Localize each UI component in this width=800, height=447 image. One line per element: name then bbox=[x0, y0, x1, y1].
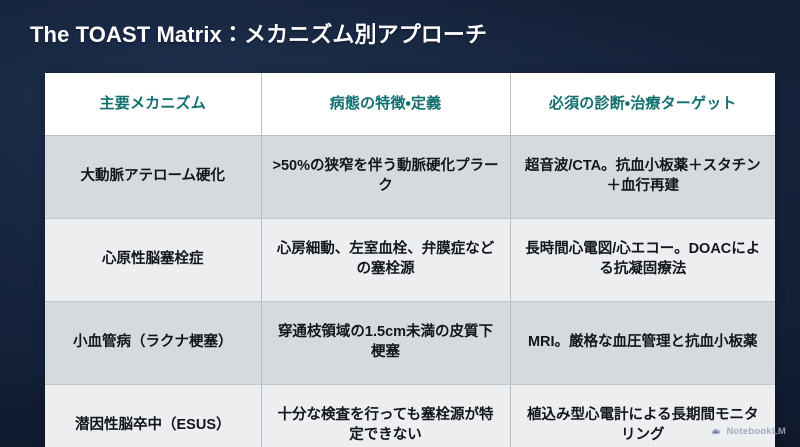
toast-matrix-table: 主要メカニズム 病態の特徴・定義 必須の診断・治療ターゲット 大動脈アテローム硬… bbox=[45, 73, 775, 447]
watermark-label: NotebookLM bbox=[726, 426, 786, 437]
slide-canvas: The TOAST Matrix：メカニズム別アプローチ 主要メカニズム 病態の… bbox=[0, 0, 800, 447]
column-header-target: 必須の診断・治療ターゲット bbox=[510, 73, 775, 136]
column-header-mechanism: 主要メカニズム bbox=[45, 73, 261, 136]
table-row: 心原性脳塞栓症 心房細動、左室血栓、弁膜症などの塞栓源 長時間心電図/心エコー。… bbox=[45, 219, 775, 302]
cell-mechanism: 大動脈アテローム硬化 bbox=[45, 136, 261, 219]
cell-mechanism: 小血管病（ラクナ梗塞） bbox=[45, 302, 261, 385]
cell-definition: 穿通枝領域の1.5cm未満の皮質下梗塞 bbox=[261, 302, 510, 385]
table-row: 小血管病（ラクナ梗塞） 穿通枝領域の1.5cm未満の皮質下梗塞 MRI。厳格な血… bbox=[45, 302, 775, 385]
table-header-row: 主要メカニズム 病態の特徴・定義 必須の診断・治療ターゲット bbox=[45, 73, 775, 136]
cell-mechanism: 潜因性脳卒中（ESUS） bbox=[45, 385, 261, 447]
cell-target: MRI。厳格な血圧管理と抗血小板薬 bbox=[510, 302, 775, 385]
column-header-definition: 病態の特徴・定義 bbox=[261, 73, 510, 136]
watermark: NotebookLM bbox=[711, 426, 786, 437]
cell-definition: 心房細動、左室血栓、弁膜症などの塞栓源 bbox=[261, 219, 510, 302]
cell-target: 超音波/CTA。抗血小板薬＋スタチン＋血行再建 bbox=[510, 136, 775, 219]
notebooklm-icon bbox=[711, 427, 721, 437]
cell-target: 植込み型心電計による長期間モニタリング bbox=[510, 385, 775, 447]
cell-mechanism: 心原性脳塞栓症 bbox=[45, 219, 261, 302]
cell-definition: >50%の狭窄を伴う動脈硬化プラーク bbox=[261, 136, 510, 219]
table-body: 大動脈アテローム硬化 >50%の狭窄を伴う動脈硬化プラーク 超音波/CTA。抗血… bbox=[45, 136, 775, 447]
table-row: 潜因性脳卒中（ESUS） 十分な検査を行っても塞栓源が特定できない 植込み型心電… bbox=[45, 385, 775, 447]
cell-target: 長時間心電図/心エコー。DOACによる抗凝固療法 bbox=[510, 219, 775, 302]
table-header: 主要メカニズム 病態の特徴・定義 必須の診断・治療ターゲット bbox=[45, 73, 775, 136]
cell-definition: 十分な検査を行っても塞栓源が特定できない bbox=[261, 385, 510, 447]
table-row: 大動脈アテローム硬化 >50%の狭窄を伴う動脈硬化プラーク 超音波/CTA。抗血… bbox=[45, 136, 775, 219]
page-title: The TOAST Matrix：メカニズム別アプローチ bbox=[30, 22, 487, 48]
